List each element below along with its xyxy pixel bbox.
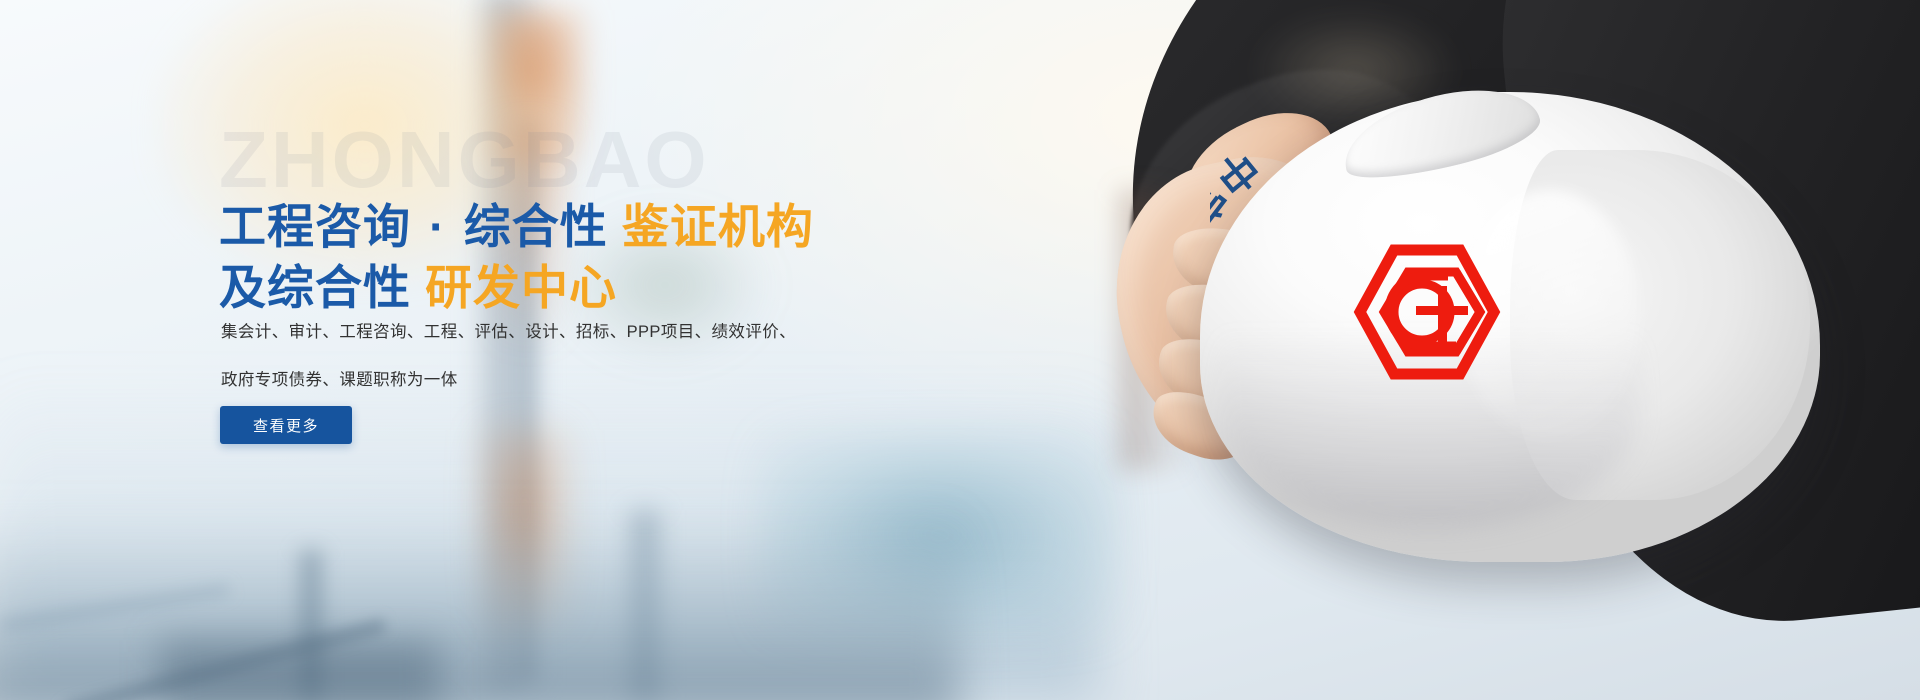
- hero-banner: 中宝工程管理 ZHONGBAO 工程咨询 ·: [0, 0, 1920, 700]
- hand-holding-helmet-photo: 中宝工程管理: [820, 0, 1920, 700]
- description-line-1: 集会计、审计、工程咨询、工程、评估、设计、招标、PPP项目、绩效评价、: [221, 308, 796, 356]
- hero-content: ZHONGBAO 工程咨询 · 综合性 鉴证机构 及综合性 研发中心 集会计、审…: [219, 0, 979, 700]
- helmet-brand-text: 中宝工程管理: [1210, 142, 1266, 412]
- watermark-text: ZHONGBAO: [219, 120, 710, 200]
- headline-line2-orange: 研发中心: [425, 261, 617, 314]
- headline-separator-dot: ·: [425, 200, 450, 253]
- headline-line2-blue: 及综合性: [219, 261, 411, 314]
- view-more-button[interactable]: 查看更多: [220, 406, 352, 444]
- zhongbao-hexagon-logo: [1352, 242, 1502, 382]
- page-title: 工程咨询 · 综合性 鉴证机构 及综合性 研发中心: [219, 197, 814, 317]
- headline-line1-blue: 工程咨询: [219, 200, 411, 253]
- hero-description: 集会计、审计、工程咨询、工程、评估、设计、招标、PPP项目、绩效评价、 政府专项…: [221, 308, 796, 404]
- description-line-2: 政府专项债券、课题职称为一体: [221, 356, 796, 404]
- headline-line1-orange: 鉴证机构: [622, 200, 814, 253]
- headline-line-1: 工程咨询 · 综合性 鉴证机构: [219, 197, 814, 257]
- svg-text:中宝工程管理: 中宝工程管理: [1210, 142, 1266, 412]
- headline-line1-blue2: 综合性: [464, 200, 608, 253]
- hard-hat-branding: 中宝工程管理: [1200, 92, 1820, 562]
